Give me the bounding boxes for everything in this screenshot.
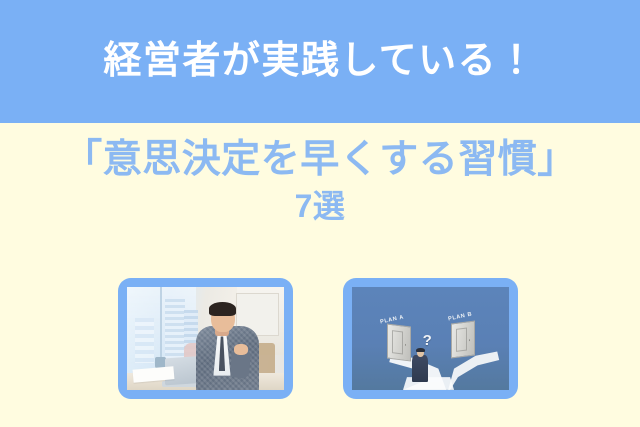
poster-canvas: 経営者が実践している！ 「意思決定を早くする習慣」 7選 <box>0 0 640 427</box>
photo-plan-a-plan-b-doors: PLAN A PLAN B ? <box>352 287 509 390</box>
header-band: 経営者が実践している！ <box>0 0 640 123</box>
door-knob-icon <box>404 343 405 345</box>
subtitle-block: 「意思決定を早くする習慣」 7選 <box>0 136 640 227</box>
standing-person-hair <box>416 348 425 353</box>
question-mark-icon: ? <box>423 332 432 349</box>
door-plan-b <box>451 321 475 359</box>
businessman-hair <box>209 302 236 315</box>
city-building-tall <box>165 299 185 363</box>
businessman-fist <box>234 344 248 355</box>
subtitle-line-1: 「意思決定を早くする習慣」 <box>0 136 640 184</box>
city-building-far <box>135 318 154 363</box>
standing-person-body <box>412 355 428 382</box>
photo-frame-businessman <box>118 278 293 399</box>
photo-row: PLAN A PLAN B ? <box>0 278 640 399</box>
door-plan-a <box>387 324 411 362</box>
photo-frame-plan-doors: PLAN A PLAN B ? <box>343 278 518 399</box>
subtitle-line-2: 7選 <box>0 186 640 228</box>
door-panel <box>391 330 402 355</box>
page-title: 経営者が実践している！ <box>103 41 536 83</box>
door-knob-icon <box>469 339 470 341</box>
photo-businessman-at-desk <box>127 287 284 390</box>
door-panel <box>456 327 467 352</box>
